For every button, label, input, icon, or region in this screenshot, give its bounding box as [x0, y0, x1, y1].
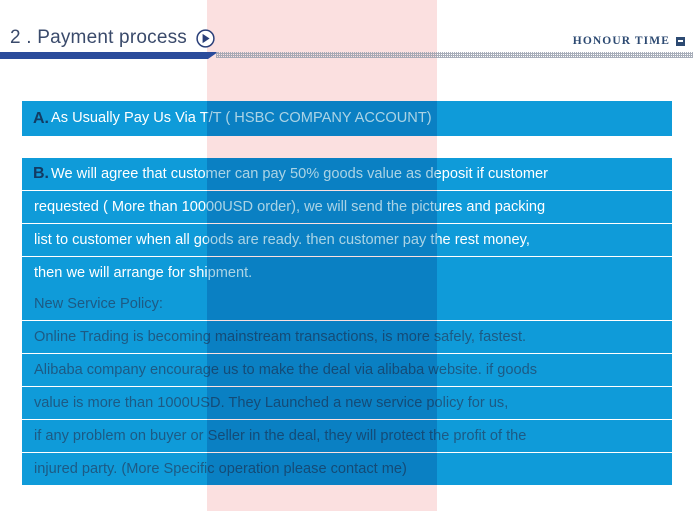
bar-section-b-line-2: requested ( More than 10000USD order), w… — [22, 191, 672, 223]
bar-section-b-line-1: B. We will agree that customer can pay 5… — [22, 158, 672, 190]
square-badge-icon — [676, 37, 685, 46]
bar-policy-line-2: Alibaba company encourage us to make the… — [22, 354, 672, 386]
bar-policy-line-3: value is more than 1000USD. They Launche… — [22, 387, 672, 419]
policy-text-line-1: Online Trading is becoming mainstream tr… — [22, 330, 526, 345]
section-b-text-line-4: then we will arrange for shipment. — [22, 266, 252, 281]
slide-header: 2 . Payment process HONOUR TIME — [0, 0, 693, 66]
section-b-text-line-1: We will agree that customer can pay 50% … — [51, 167, 548, 182]
slide-canvas: 2 . Payment process HONOUR TIME A. As Us… — [0, 0, 693, 511]
bar-section-b-line-4: then we will arrange for shipment. — [22, 257, 672, 289]
bar-policy-line-4: if any problem on buyer or Seller in the… — [22, 420, 672, 452]
circle-arrow-right-icon[interactable] — [196, 29, 215, 48]
title-underline-bar — [0, 52, 218, 59]
section-b-text-line-3: list to customer when all goods are read… — [22, 233, 530, 248]
section-a-text: As Usually Pay Us Via T/T ( HSBC COMPANY… — [51, 111, 432, 126]
bar-policy-line-5: injured party. (More Specific operation … — [22, 453, 672, 485]
page-title-row: 2 . Payment process — [10, 27, 215, 49]
bar-section-b-line-3: list to customer when all goods are read… — [22, 224, 672, 256]
section-b-text-line-2: requested ( More than 10000USD order), w… — [22, 200, 545, 215]
bar-policy-heading: New Service Policy: — [22, 289, 672, 320]
bar-section-a: A. As Usually Pay Us Via T/T ( HSBC COMP… — [22, 101, 672, 136]
title-hatched-rule — [216, 52, 693, 58]
bar-policy-line-1: Online Trading is becoming mainstream tr… — [22, 321, 672, 353]
page-title: 2 . Payment process — [10, 27, 187, 49]
section-b-marker: B. — [22, 165, 51, 183]
section-a-marker: A. — [22, 110, 51, 128]
policy-text-line-5: injured party. (More Specific operation … — [22, 462, 407, 477]
policy-text-line-3: value is more than 1000USD. They Launche… — [22, 396, 508, 411]
content-bars: A. As Usually Pay Us Via T/T ( HSBC COMP… — [22, 0, 672, 511]
policy-heading-text: New Service Policy: — [22, 297, 163, 312]
policy-text-line-4: if any problem on buyer or Seller in the… — [22, 429, 526, 444]
brand-mark: HONOUR TIME — [573, 35, 685, 47]
brand-name: HONOUR TIME — [573, 35, 670, 47]
policy-text-line-2: Alibaba company encourage us to make the… — [22, 363, 537, 378]
